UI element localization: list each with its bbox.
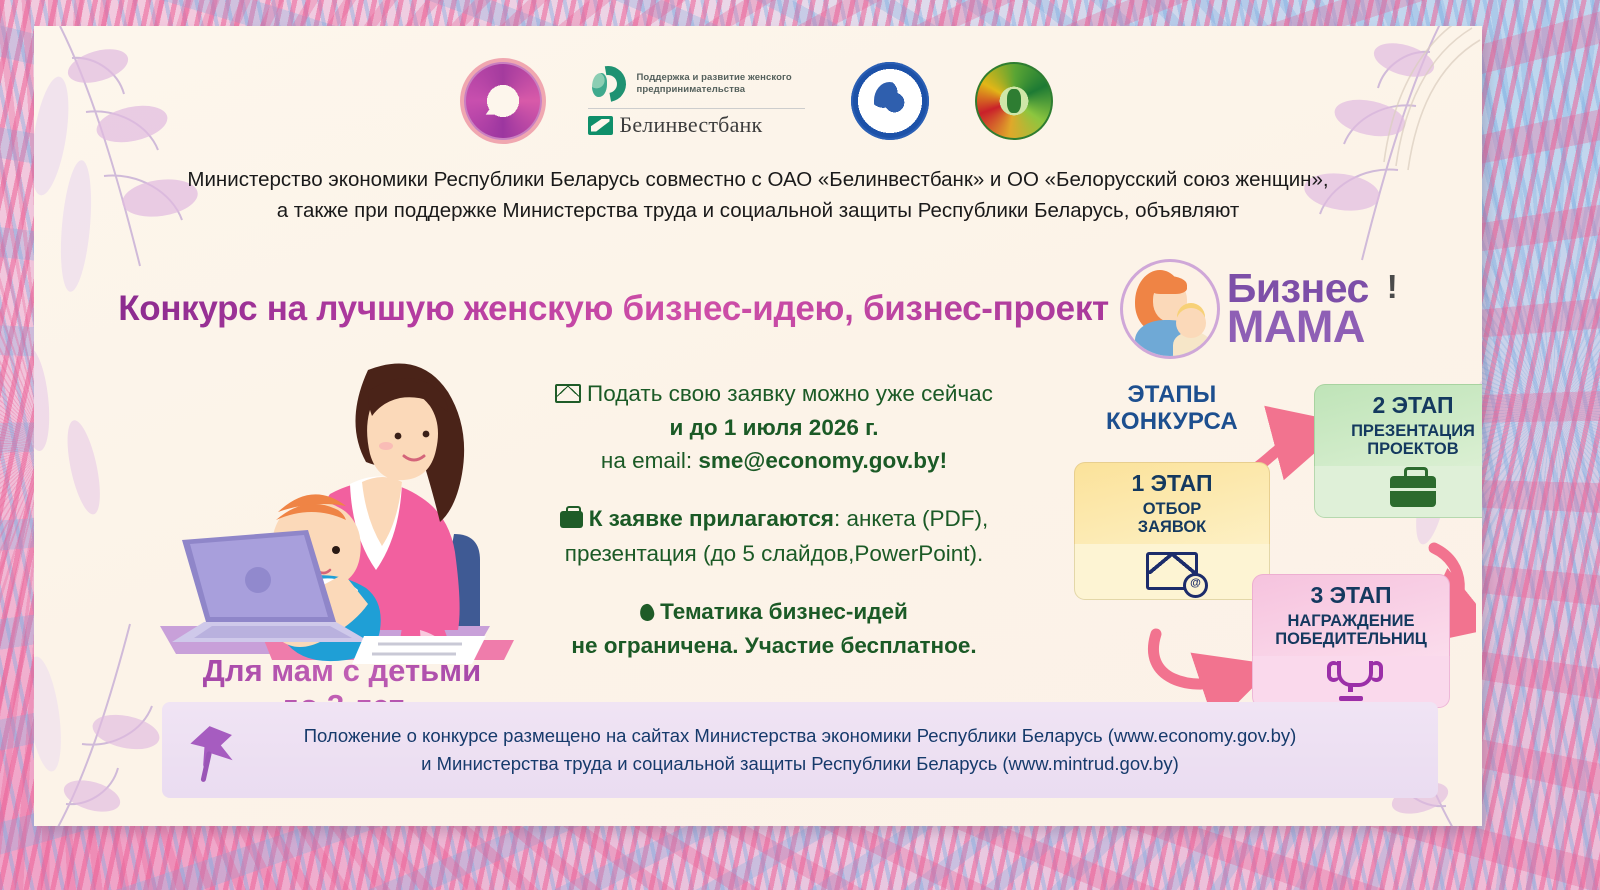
divider bbox=[588, 108, 805, 109]
business-mama-logo: Бизнес МАМА ! bbox=[1123, 262, 1398, 356]
briefcase-icon bbox=[560, 505, 583, 537]
stage-card-1: 1 ЭТАП ОТБОР ЗАЯВОК bbox=[1074, 462, 1270, 600]
stage-2-icon-area bbox=[1314, 466, 1482, 518]
footer-text: Положение о конкурсе размещено на сайтах… bbox=[234, 722, 1367, 778]
stage-3-number: 3 ЭТАП bbox=[1259, 584, 1443, 607]
poster-card: Поддержка и развитие женского предприним… bbox=[34, 26, 1482, 826]
stage-1-icon-area bbox=[1074, 544, 1270, 600]
email-address: sme@economy.gov.by! bbox=[698, 448, 947, 473]
mail-icon bbox=[555, 380, 581, 412]
brand-line-2: МАМА bbox=[1227, 307, 1369, 348]
belinvestbank-slogan: Поддержка и развитие женского предприним… bbox=[637, 72, 805, 96]
footer-line-2: и Министерства труда и социальной защиты… bbox=[304, 750, 1297, 778]
stage-2-header: 2 ЭТАП ПРЕЗЕНТАЦИЯ ПРОЕКТОВ bbox=[1314, 384, 1482, 466]
attachments-block: К заявке прилагаются: анкета (PDF), през… bbox=[504, 503, 1044, 570]
stage-1-subtitle-line-2: ЗАЯВОК bbox=[1081, 518, 1263, 536]
attachments-line-1: К заявке прилагаются: анкета (PDF), bbox=[504, 503, 1044, 537]
apply-line-3: на email: sme@economy.gov.by! bbox=[504, 445, 1044, 477]
attachments-line-2: презентация (до 5 слайдов,PowerPoint). bbox=[504, 538, 1044, 570]
stage-1-number: 1 ЭТАП bbox=[1081, 472, 1263, 495]
stage-2-number: 2 ЭТАП bbox=[1321, 394, 1482, 417]
mother-with-baby-illustration bbox=[154, 344, 534, 674]
details-column: Подать свою заявку можно уже сейчас и до… bbox=[504, 378, 1044, 689]
stage-3-subtitle-line-1: НАГРАЖДЕНИЕ bbox=[1259, 612, 1443, 630]
topics-line-2: не ограничена. Участие бесплатное. bbox=[504, 630, 1044, 662]
stages-title-line-2: КОНКУРСА bbox=[1072, 409, 1272, 436]
apply-line-2: и до 1 июля 2026 г. bbox=[504, 412, 1044, 444]
women-union-icon bbox=[464, 62, 542, 140]
poster-canvas: Поддержка и развитие женского предприним… bbox=[0, 0, 1600, 890]
footer-band: Положение о конкурсе размещено на сайтах… bbox=[162, 702, 1438, 798]
mother-and-baby-icon bbox=[1123, 262, 1217, 356]
stage-card-2: 2 ЭТАП ПРЕЗЕНТАЦИЯ ПРОЕКТОВ bbox=[1314, 384, 1482, 518]
headline-row: Конкурс на лучшую женскую бизнес-идею, б… bbox=[34, 262, 1482, 356]
stage-3-subtitle-line-2: ПОБЕДИТЕЛЬНИЦ bbox=[1259, 630, 1443, 648]
apply-block: Подать свою заявку можно уже сейчас и до… bbox=[504, 378, 1044, 477]
stage-1-subtitle-line-1: ОТБОР bbox=[1081, 500, 1263, 518]
stage-2-subtitle-line-1: ПРЕЗЕНТАЦИЯ bbox=[1321, 422, 1482, 440]
stage-3-header: 3 ЭТАП НАГРАЖДЕНИЕ ПОБЕДИТЕЛЬНИЦ bbox=[1252, 574, 1450, 656]
intro-line-2: а также при поддержке Министерства труда… bbox=[94, 195, 1422, 226]
intro-line-1: Министерство экономики Республики Белару… bbox=[94, 164, 1422, 195]
exclamation-mark: ! bbox=[1387, 268, 1398, 306]
briefcase-icon bbox=[1390, 476, 1436, 507]
drop-icon bbox=[640, 598, 654, 630]
stages-panel: ЭТАПЫ КОНКУРСА 1 ЭТАП ОТБОР ЗАЯВОК bbox=[1056, 378, 1476, 728]
belarusian-union-of-women-emblem bbox=[464, 62, 542, 140]
topics-line-1: Тематика бизнес-идей bbox=[504, 596, 1044, 630]
stage-card-3: 3 ЭТАП НАГРАЖДЕНИЕ ПОБЕДИТЕЛЬНИЦ bbox=[1252, 574, 1450, 708]
stages-title: ЭТАПЫ КОНКУРСА bbox=[1072, 382, 1272, 436]
belinvestbank-name: Белинвестбанк bbox=[620, 112, 763, 138]
belinvestbank-leaf-icon bbox=[588, 64, 628, 104]
footer-line-1: Положение о конкурсе размещено на сайтах… bbox=[304, 722, 1297, 750]
belinvestbank-logo: Поддержка и развитие женского предприним… bbox=[588, 64, 805, 138]
intro-paragraph: Министерство экономики Республики Белару… bbox=[94, 164, 1422, 226]
partner-logo-row: Поддержка и развитие женского предприним… bbox=[34, 46, 1482, 156]
apply-line-1: Подать свою заявку можно уже сейчас bbox=[504, 378, 1044, 412]
union-emblem bbox=[851, 62, 929, 140]
labour-ministry-icon bbox=[975, 62, 1053, 140]
stage-2-subtitle-line-2: ПРОЕКТОВ bbox=[1321, 440, 1482, 458]
ministry-of-labour-emblem bbox=[975, 62, 1053, 140]
trophy-icon bbox=[1332, 661, 1370, 701]
topics-block: Тематика бизнес-идей не ограничена. Учас… bbox=[504, 596, 1044, 663]
left-caption-line-1: Для мам с детьми bbox=[152, 654, 532, 689]
stages-title-line-1: ЭТАПЫ bbox=[1072, 382, 1272, 409]
union-icon bbox=[851, 62, 929, 140]
stage-3-icon-area bbox=[1252, 656, 1450, 708]
stage-1-header: 1 ЭТАП ОТБОР ЗАЯВОК bbox=[1074, 462, 1270, 544]
page-title: Конкурс на лучшую женскую бизнес-идею, б… bbox=[118, 289, 1109, 329]
email-at-icon bbox=[1146, 552, 1198, 590]
belinvestbank-mark-icon bbox=[588, 116, 613, 135]
